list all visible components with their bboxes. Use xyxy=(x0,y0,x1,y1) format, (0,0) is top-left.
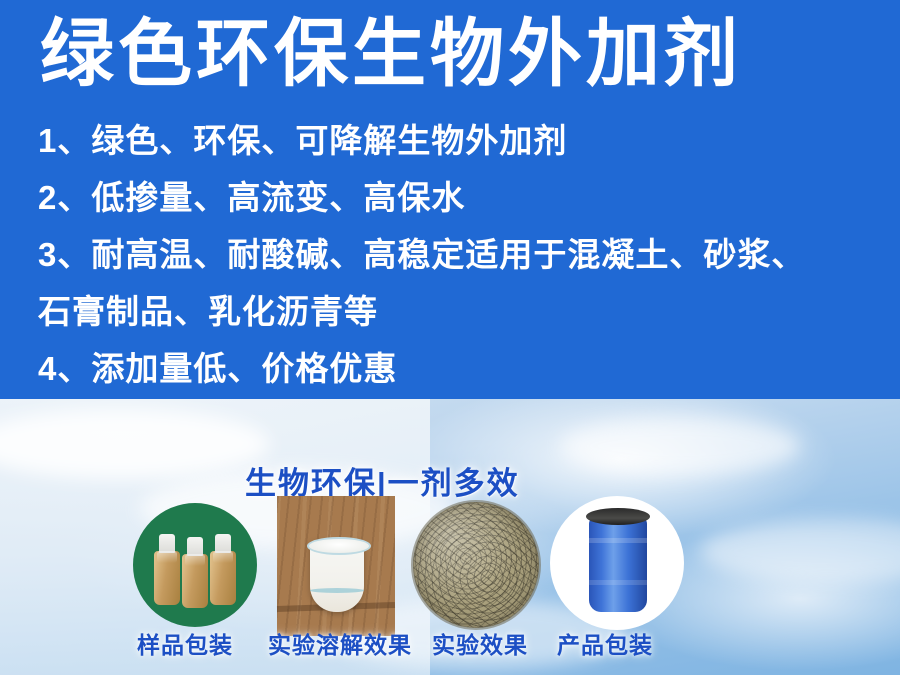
blue-drum-photo xyxy=(550,496,684,630)
thumbnail-caption-dissolution-test: 实验溶解效果 xyxy=(268,626,412,660)
sample-bottle xyxy=(182,554,208,608)
blue-plastic-drum xyxy=(589,516,647,612)
mortar-disc-edge xyxy=(411,500,541,630)
product-poster: 绿色环保生物外加剂 1、绿色、环保、可降解生物外加剂 2、低掺量、高流变、高保水… xyxy=(0,0,900,675)
feature-line-4: 4、添加量低、价格优惠 xyxy=(38,340,868,397)
sample-bottle xyxy=(154,551,180,605)
page-title: 绿色环保生物外加剂 xyxy=(40,8,870,100)
sample-bottles-photo xyxy=(133,503,257,627)
beaker-dissolution-photo xyxy=(277,496,395,636)
thumbnail-caption-sample-packaging: 样品包装 xyxy=(137,626,233,660)
feature-line-3-continued: 石膏制品、乳化沥青等 xyxy=(38,283,868,340)
beaker-liquid-line xyxy=(310,588,364,593)
product-thumbnail-row: 样品包装 实验溶解效果 实验效果 产品包装 xyxy=(0,500,900,675)
thumbnail-caption-product-packaging: 产品包装 xyxy=(557,626,653,660)
sample-bottle xyxy=(210,551,236,605)
feature-line-1: 1、绿色、环保、可降解生物外加剂 xyxy=(38,112,868,169)
cloud-shape xyxy=(560,417,800,475)
blue-info-panel: 绿色环保生物外加剂 1、绿色、环保、可降解生物外加剂 2、低掺量、高流变、高保水… xyxy=(0,0,900,399)
beaker-rim xyxy=(307,537,371,555)
mortar-sample-photo xyxy=(413,502,539,628)
feature-line-2: 2、低掺量、高流变、高保水 xyxy=(38,169,868,226)
feature-line-3: 3、耐高温、耐酸碱、高稳定适用于混凝土、砂浆、 xyxy=(38,226,868,283)
drum-lid-ring xyxy=(586,508,650,525)
feature-list: 1、绿色、环保、可降解生物外加剂 2、低掺量、高流变、高保水 3、耐高温、耐酸碱… xyxy=(38,112,868,397)
thumbnail-caption-test-result: 实验效果 xyxy=(432,626,528,660)
